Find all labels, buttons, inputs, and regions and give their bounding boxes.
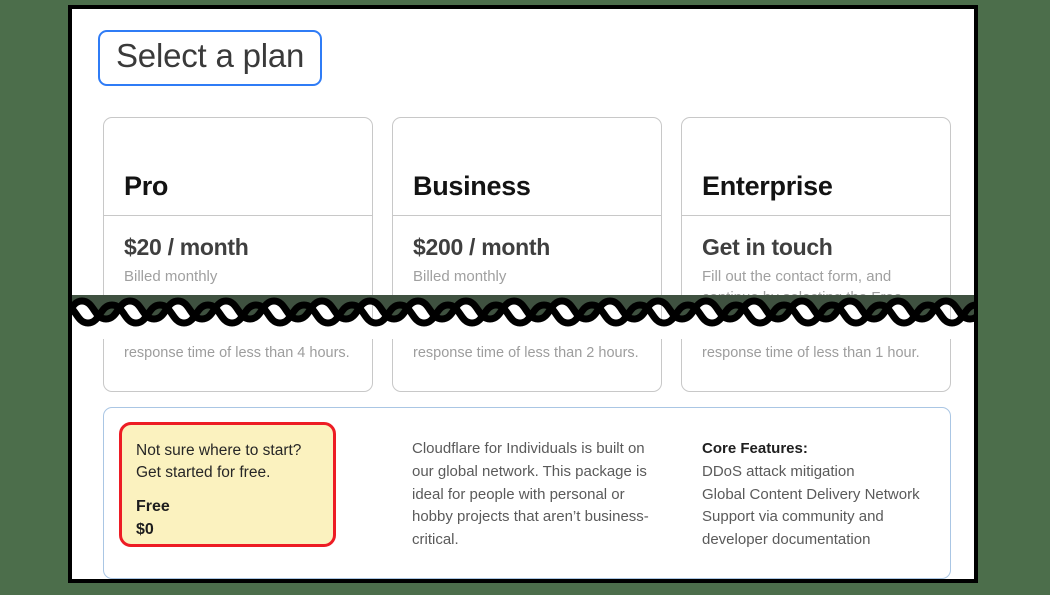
free-plan-name: Free — [136, 498, 333, 516]
plan-name: Enterprise — [702, 171, 833, 202]
plan-name: Business — [413, 171, 531, 202]
free-plan-panel[interactable]: Not sure where to start? Get started for… — [103, 407, 951, 579]
plan-card-body: Get in touch Fill out the contact form, … — [682, 216, 950, 391]
plan-price: $20 / month — [124, 234, 352, 261]
page-title: Select a plan — [98, 30, 322, 86]
plan-subtext: Billed monthly — [124, 266, 339, 287]
plan-support-resource: Support resource: Median email response … — [413, 321, 645, 365]
free-plan-description: Cloudflare for Individuals is built on o… — [412, 438, 662, 552]
plan-card-header: Pro — [104, 118, 372, 216]
support-resource-label: Support resource: — [702, 323, 828, 339]
support-resource-label: Support resource: — [124, 323, 250, 339]
free-plan-features: Core Features: DDoS attack mitigation Gl… — [702, 438, 938, 552]
plan-card-list: Pro $20 / month Billed monthly Support r… — [103, 117, 951, 392]
plan-card-body: $20 / month Billed monthly Support resou… — [104, 216, 372, 391]
free-plan-price: $0 — [136, 521, 333, 539]
support-resource-label: Support resource: — [413, 323, 539, 339]
plan-price: Get in touch — [702, 234, 930, 261]
free-prompt-line-2: Get started for free. — [136, 462, 333, 484]
plan-card-business[interactable]: Business $200 / month Billed monthly Sup… — [392, 117, 662, 392]
core-features-title: Core Features: — [702, 438, 938, 461]
plan-name: Pro — [124, 171, 168, 202]
feature-item: DDoS attack mitigation — [702, 461, 938, 484]
plan-card-header: Business — [393, 118, 661, 216]
feature-item: Support via community and developer docu… — [702, 506, 938, 552]
plan-support-resource: Support resource: Median email response … — [702, 321, 934, 365]
plan-card-body: $200 / month Billed monthly Support reso… — [393, 216, 661, 391]
plan-card-enterprise[interactable]: Enterprise Get in touch Fill out the con… — [681, 117, 951, 392]
plan-subtext: Billed monthly — [413, 266, 628, 287]
plan-card-pro[interactable]: Pro $20 / month Billed monthly Support r… — [103, 117, 373, 392]
plan-card-header: Enterprise — [682, 118, 950, 216]
plan-subtext: Fill out the contact form, and continue … — [702, 266, 917, 309]
free-plan-highlight-box[interactable]: Not sure where to start? Get started for… — [119, 422, 336, 547]
free-prompt-line-1: Not sure where to start? — [136, 440, 333, 462]
feature-item: Global Content Delivery Network — [702, 484, 938, 507]
page-frame: Select a plan Pro $20 / month Billed mon… — [68, 5, 978, 583]
plan-price: $200 / month — [413, 234, 641, 261]
plan-support-resource: Support resource: Median email response … — [124, 321, 356, 365]
